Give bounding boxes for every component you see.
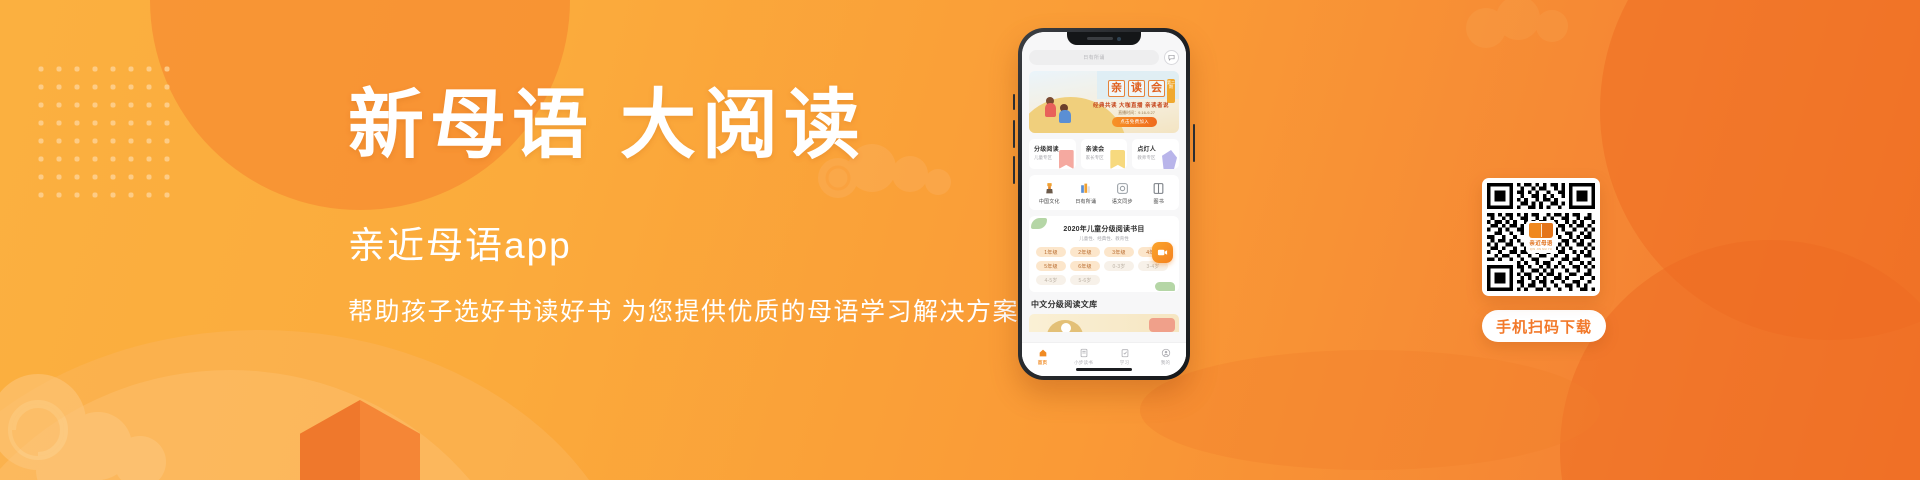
download-button[interactable]: 手机扫码下载 xyxy=(1482,310,1606,342)
phone-ground-shadow xyxy=(1140,350,1600,470)
tab-label: 学习 xyxy=(1120,360,1129,366)
tab-label: 我的 xyxy=(1161,360,1170,366)
home-icon xyxy=(1037,347,1048,358)
headline-part-1: 新母语 xyxy=(348,84,594,168)
tab-reading[interactable]: 小步读书 xyxy=(1063,347,1104,366)
leaf-decoration-bottom-right xyxy=(1155,282,1175,291)
promo-title: 亲 读 会 xyxy=(1108,80,1165,97)
tab-label: 首页 xyxy=(1038,360,1047,366)
promo-cta-button[interactable]: 点击免费加入 xyxy=(1112,117,1157,127)
phone-mute-button xyxy=(1013,94,1015,110)
quick-nav-label: 中国文化 xyxy=(1039,198,1060,205)
qr-card: 亲近母语 QIN JIN MU YU xyxy=(1482,178,1600,296)
quick-nav-item-culture[interactable]: 中国文化 xyxy=(1031,181,1067,205)
tab-profile[interactable]: 我的 xyxy=(1145,347,1186,366)
promo-child-1 xyxy=(1045,103,1056,117)
search-input[interactable]: 日有所诵 xyxy=(1029,50,1159,65)
grade-chip[interactable]: 3年级 xyxy=(1104,247,1134,257)
qr-center-logo: 亲近母语 QIN JIN MU YU xyxy=(1526,221,1556,253)
promo-banner: 新母语大阅读 亲近母语app 帮助孩子选好书读好书 为您提供优质的母语学习解决方… xyxy=(0,0,1920,480)
app-home-screen: 日有所诵 亲 读 会 xyxy=(1022,32,1186,376)
app-name-subhead: 亲近母语app xyxy=(348,224,1028,268)
promo-card[interactable]: 亲 读 会 第二期 经典共读 大咖直播 亲读者说 直播时间：9.16-9.27 … xyxy=(1029,71,1179,133)
phone-volume-up-button xyxy=(1013,120,1015,148)
quick-nav-item-recite[interactable]: 日有所诵 xyxy=(1068,181,1104,205)
grade-chip[interactable]: 6年级 xyxy=(1070,261,1100,271)
quick-nav-label: 语文同步 xyxy=(1112,198,1133,205)
logo-name-en: QIN JIN MU YU xyxy=(1530,248,1552,251)
sync-icon xyxy=(1115,181,1129,195)
message-icon[interactable] xyxy=(1164,50,1179,65)
background-wave-left xyxy=(0,330,640,480)
age-chip[interactable]: 4-5岁 xyxy=(1036,275,1066,285)
shelf-item-2 xyxy=(1149,318,1175,332)
library-shelf-preview[interactable] xyxy=(1029,314,1179,332)
front-camera-icon xyxy=(1117,37,1121,41)
phone-screen: 日有所诵 亲 读 会 xyxy=(1022,32,1186,376)
entry-card-parent-club[interactable]: 亲读会 家长专区 xyxy=(1081,139,1128,169)
library-section-title: 中文分级阅读文库 xyxy=(1029,297,1179,314)
earpiece-speaker-icon xyxy=(1087,37,1113,40)
quick-nav-item-sync[interactable]: 语文同步 xyxy=(1104,181,1140,205)
reading-icon xyxy=(1078,347,1089,358)
promo-child-2 xyxy=(1059,110,1071,123)
age-chip[interactable]: 5-6岁 xyxy=(1070,275,1100,285)
dot-grid-pattern xyxy=(32,60,172,210)
grade-chip[interactable]: 1年级 xyxy=(1036,247,1066,257)
logo-book-icon xyxy=(1529,223,1553,238)
video-play-icon[interactable] xyxy=(1152,242,1173,263)
books-icon xyxy=(1152,181,1166,195)
culture-icon xyxy=(1042,181,1056,195)
grade-chip[interactable]: 2年级 xyxy=(1070,247,1100,257)
search-row: 日有所诵 xyxy=(1029,50,1179,65)
phone-notch xyxy=(1067,32,1141,45)
age-chip[interactable]: 0-3岁 xyxy=(1104,261,1134,271)
entry-cards: 分级阅读 儿童专区 亲读会 家长专区 点灯人 教师专区 xyxy=(1029,139,1179,169)
shelf-item-3 xyxy=(1061,323,1071,332)
promo-flag-badge: 第二期 xyxy=(1167,79,1175,103)
background-cube xyxy=(300,400,420,480)
cloud-swirl-top-right-icon xyxy=(1460,0,1580,54)
promo-date: 直播时间：9.16-9.27 xyxy=(1118,110,1155,116)
quick-nav-label: 日有所诵 xyxy=(1075,198,1096,205)
headline-part-2: 大阅读 xyxy=(620,84,866,168)
promo-title-char-3: 会 xyxy=(1148,80,1165,97)
promo-subtitle: 经典共读 大咖直播 亲读者说 xyxy=(1093,101,1169,109)
entry-decoration xyxy=(1110,150,1125,169)
promo-title-char-2: 读 xyxy=(1128,80,1145,97)
booklist-title: 2020年儿童分级阅读书目 xyxy=(1036,224,1172,234)
qr-code: 亲近母语 QIN JIN MU YU xyxy=(1487,183,1595,291)
tab-home[interactable]: 首页 xyxy=(1022,347,1063,366)
book-stack-icon xyxy=(1079,181,1093,195)
quick-nav-label: 图书 xyxy=(1154,198,1164,205)
phone-volume-down-button xyxy=(1013,156,1015,184)
background-circle-right xyxy=(1600,0,1920,340)
background-wave-left-2 xyxy=(0,370,540,480)
study-icon xyxy=(1119,347,1130,358)
quick-nav-grid: 中国文化 日有所诵 语文同步 xyxy=(1029,175,1179,210)
entry-card-graded-reading[interactable]: 分级阅读 儿童专区 xyxy=(1029,139,1076,169)
entry-card-teacher[interactable]: 点灯人 教师专区 xyxy=(1132,139,1179,169)
logo-name-cn: 亲近母语 xyxy=(1529,239,1552,247)
profile-icon xyxy=(1160,347,1171,358)
quick-nav-item-books[interactable]: 图书 xyxy=(1141,181,1177,205)
booklist-card[interactable]: 2020年儿童分级阅读书目 儿童性、经典性、教育性 1年级 2年级 3年级 4年… xyxy=(1029,216,1179,292)
home-indicator xyxy=(1076,368,1132,371)
tagline: 帮助孩子选好书读好书 为您提供优质的母语学习解决方案 xyxy=(348,296,1028,329)
copy-block: 新母语大阅读 亲近母语app 帮助孩子选好书读好书 为您提供优质的母语学习解决方… xyxy=(348,88,1028,329)
qr-block: 亲近母语 QIN JIN MU YU 手机扫码下载 xyxy=(1482,178,1606,342)
page-title: 新母语大阅读 xyxy=(348,88,1028,164)
promo-title-char-1: 亲 xyxy=(1108,80,1125,97)
phone-power-button xyxy=(1193,124,1195,162)
booklist-subtitle: 儿童性、经典性、教育性 xyxy=(1036,236,1172,242)
background-circle-bottom-right xyxy=(1560,240,1920,480)
cloud-swirl-icon xyxy=(0,350,200,480)
phone-mockup: 日有所诵 亲 读 会 xyxy=(1018,28,1190,380)
entry-decoration xyxy=(1059,150,1074,169)
background-cube-face xyxy=(300,400,360,480)
tab-study[interactable]: 学习 xyxy=(1104,347,1145,366)
tab-label: 小步读书 xyxy=(1074,360,1093,366)
grade-chip[interactable]: 5年级 xyxy=(1036,261,1066,271)
